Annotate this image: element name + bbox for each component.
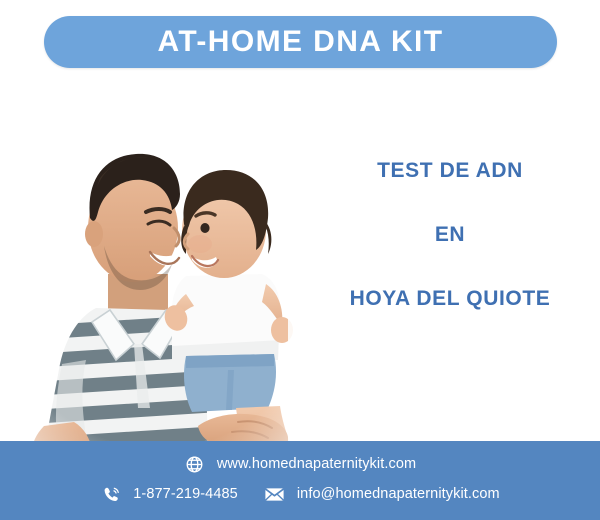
- envelope-icon: [264, 483, 286, 505]
- website-text: www.homednapaternitykit.com: [217, 457, 416, 472]
- headline-line-location: HOYA DEL QUIOTE: [300, 288, 600, 309]
- headline-block: TEST DE ADN EN HOYA DEL QUIOTE: [300, 160, 600, 309]
- phone-icon: [100, 483, 122, 505]
- phone-text: 1-877-219-4485: [133, 487, 238, 502]
- page-title: AT-HOME DNA KIT: [158, 27, 444, 57]
- email-item[interactable]: info@homednapaternitykit.com: [264, 483, 500, 505]
- header-banner: AT-HOME DNA KIT: [44, 16, 557, 68]
- footer-contact-row: 1-877-219-4485 info@homednapaternitykit.…: [0, 483, 600, 505]
- website-item[interactable]: www.homednapaternitykit.com: [184, 453, 416, 475]
- globe-icon: [184, 453, 206, 475]
- email-text: info@homednapaternitykit.com: [297, 487, 500, 502]
- dna-test-poster: AT-HOME DNA KIT: [0, 0, 600, 520]
- family-photo-illustration: [0, 78, 320, 450]
- contact-footer: www.homednapaternitykit.com 1-877-219-44…: [0, 441, 600, 520]
- headline-line-service: TEST DE ADN: [300, 160, 600, 181]
- footer-website-row: www.homednapaternitykit.com: [0, 453, 600, 475]
- family-photo: [0, 78, 320, 450]
- phone-item[interactable]: 1-877-219-4485: [100, 483, 238, 505]
- headline-line-preposition: EN: [300, 224, 600, 245]
